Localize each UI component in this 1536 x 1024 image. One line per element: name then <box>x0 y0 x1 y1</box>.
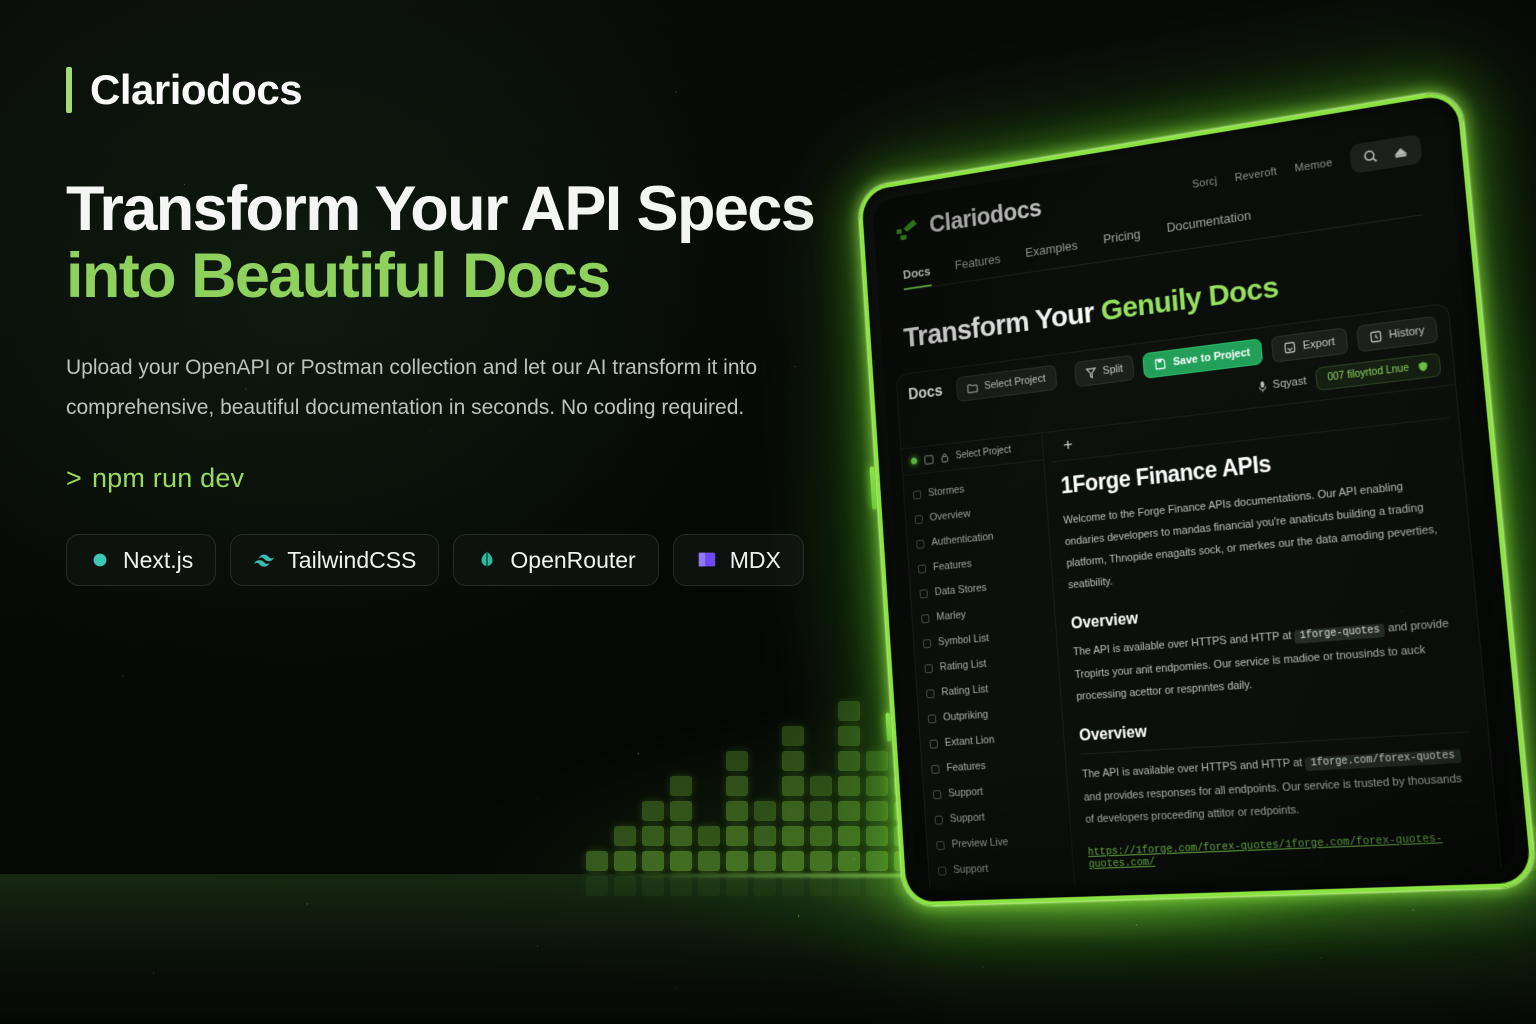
equalizer-column <box>782 726 804 896</box>
sidebar-item-label: Extant Lion <box>944 734 994 749</box>
export-small-icon <box>924 454 934 465</box>
equalizer-cell <box>838 776 860 796</box>
command-text: npm run dev <box>92 463 244 493</box>
export-button[interactable]: Export <box>1271 327 1348 363</box>
sidebar-header-label: Select Project <box>955 445 1011 462</box>
save-to-project-button[interactable]: Save to Project <box>1143 338 1264 379</box>
brand-name: Clariodocs <box>90 66 302 114</box>
equalizer-cell <box>698 851 720 871</box>
sidebar-item-icon <box>928 714 937 723</box>
header-link-0[interactable]: Sorcj <box>1192 175 1218 191</box>
prompt-chevron-icon: > <box>66 463 82 493</box>
equalizer-cell <box>782 726 804 746</box>
sidebar-item-label: Rating List <box>939 658 986 673</box>
app-nav-tab-features[interactable]: Features <box>954 251 1001 278</box>
export-label: Export <box>1302 336 1335 352</box>
tech-badge-list: Next.jsTailwindCSSOpenRouterMDX <box>66 534 866 586</box>
sidebar-item-label: Support <box>953 863 989 876</box>
doc-section-0-code: 1forge-quotes <box>1294 624 1385 644</box>
equalizer-cell <box>726 776 748 796</box>
mdx-icon <box>696 549 718 571</box>
sidebar-item-label: Outpriking <box>943 709 989 724</box>
equalizer-cell <box>754 826 776 846</box>
save-to-project-label: Save to Project <box>1173 347 1251 369</box>
tech-badge-label: Next.js <box>123 547 193 574</box>
equalizer-cell <box>838 801 860 821</box>
history-label: History <box>1388 324 1425 341</box>
brand-lockup: Clariodocs <box>66 66 866 114</box>
mic-button[interactable]: Sqyast <box>1257 375 1306 393</box>
tech-badge-label: OpenRouter <box>510 547 635 574</box>
clariodocs-logo-icon <box>896 217 920 241</box>
tablet-screen: Clariodocs Sorcj Reveroft Memoe <box>872 107 1517 890</box>
tech-badge-next-js[interactable]: Next.js <box>66 534 216 586</box>
sidebar-item-label: Preview Live <box>951 836 1008 850</box>
tech-badge-label: MDX <box>730 547 781 574</box>
equalizer-cell <box>670 851 692 871</box>
sidebar-item-label: Features <box>933 558 972 573</box>
tablet-frame: Clariodocs Sorcj Reveroft Memoe <box>858 88 1536 906</box>
equalizer-cell <box>754 851 776 871</box>
app-nav-tab-docs[interactable]: Docs <box>902 264 931 290</box>
header-icon-group <box>1349 134 1422 174</box>
select-project-button[interactable]: Select Project <box>956 365 1058 402</box>
headline-line-2: into Beautiful Docs <box>66 243 866 310</box>
app-nav-tab-pricing[interactable]: Pricing <box>1103 226 1142 253</box>
tech-badge-label: TailwindCSS <box>287 547 416 574</box>
sidebar-item-icon <box>921 614 930 623</box>
status-dot-icon <box>911 457 918 464</box>
equalizer-cell <box>810 851 832 871</box>
search-icon[interactable] <box>1362 148 1379 165</box>
openrouter-icon <box>476 549 498 571</box>
equalizer-cell <box>782 801 804 821</box>
lock-small-icon <box>940 452 949 463</box>
sidebar-item-icon <box>931 764 940 773</box>
brand-accent-bar <box>66 67 72 113</box>
equalizer-cell <box>838 726 860 746</box>
sidebar-item-icon <box>929 739 938 748</box>
sidebar-item-icon <box>934 815 943 824</box>
sidebar-item-label: Features <box>946 760 986 774</box>
app-logo-name: Clariodocs <box>928 195 1042 240</box>
sidebar-item-label: Data Stores <box>934 582 987 598</box>
sidebar-item-label: Stormes <box>928 484 965 499</box>
equalizer-cell <box>726 826 748 846</box>
install-command: >npm run dev <box>66 463 866 494</box>
equalizer-cell <box>726 851 748 871</box>
app-hero-white: Transform Your <box>903 296 1103 354</box>
hero-content: Clariodocs Transform Your API Specs into… <box>66 66 866 586</box>
tech-badge-mdx[interactable]: MDX <box>673 534 804 586</box>
hero-subcopy: Upload your OpenAPI or Postman collectio… <box>66 348 846 430</box>
tailwindcss-icon <box>253 549 275 571</box>
tablet-mockup: Clariodocs Sorcj Reveroft Memoe <box>858 88 1536 906</box>
doc-section-1-body: The API is available over HTTPS and HTTP… <box>1081 742 1478 831</box>
sidebar-item-icon <box>936 840 945 849</box>
header-link-1[interactable]: Reveroft <box>1234 165 1277 183</box>
sidebar-item-icon <box>919 589 927 598</box>
app-nav-tab-examples[interactable]: Examples <box>1025 238 1079 267</box>
equalizer-cell <box>782 851 804 871</box>
app-hero-green: Genuily Docs <box>1100 271 1280 328</box>
equalizer-cell <box>726 801 748 821</box>
equalizer-cell <box>642 851 664 871</box>
sidebar-item-label: Marley <box>936 609 966 623</box>
doc-section-1-code: 1forge.com/forex-quotes <box>1305 749 1461 771</box>
equalizer-cell <box>614 826 636 846</box>
equalizer-cell <box>838 851 860 871</box>
doc-section-1: Overview The API is available over HTTPS… <box>1079 704 1478 831</box>
sidebar-item-label: Overview <box>929 508 970 524</box>
doc-section-0: Overview The API is available over HTTPS… <box>1070 584 1465 708</box>
equalizer-cell <box>838 826 860 846</box>
workspace-title: Docs <box>908 383 943 404</box>
sidebar-item-label: Authentication <box>931 531 994 549</box>
status-text: 007 filoyrtod Lnue <box>1327 363 1410 384</box>
doc-footer-bar: Dbb prong yord documentation catalis. fi… <box>1091 875 1487 890</box>
equalizer-cell <box>642 826 664 846</box>
sidebar-item-icon <box>938 866 947 875</box>
nextjs-icon <box>89 549 111 571</box>
sidebar-item-label: Symbol List <box>938 632 990 648</box>
page-title: Transform Your API Specs into Beautiful … <box>66 176 866 310</box>
doc-footer-text[interactable]: Dbb prong yord documentation catalis. fi… <box>1091 889 1468 890</box>
sidebar-item-icon <box>918 564 926 573</box>
equalizer-cell <box>810 801 832 821</box>
account-icon[interactable] <box>1392 143 1410 161</box>
doc-section-1-text-before: The API is available over HTTPS and HTTP… <box>1082 757 1303 781</box>
history-button[interactable]: History <box>1356 316 1438 353</box>
headline-line-1: Transform Your API Specs <box>66 176 866 243</box>
equalizer-column <box>838 701 860 896</box>
split-button[interactable]: Split <box>1074 355 1135 388</box>
sidebar-item-icon <box>923 639 932 648</box>
tech-badge-tailwindcss[interactable]: TailwindCSS <box>230 534 439 586</box>
equalizer-cell <box>782 751 804 771</box>
app-logo[interactable]: Clariodocs <box>896 195 1043 245</box>
doc-section-1-text-after: and provides responses for all endpoints… <box>1083 773 1462 826</box>
equalizer-cell <box>586 851 608 871</box>
equalizer-cell <box>810 826 832 846</box>
equalizer-cell <box>642 801 664 821</box>
workspace-panel: Docs Select Project Split Save to P <box>896 303 1507 890</box>
equalizer-cell <box>838 751 860 771</box>
sidebar-item-icon <box>933 790 942 799</box>
sidebar-item-icon <box>924 664 933 673</box>
sidebar-item-icon <box>916 539 924 548</box>
doc-section-0-text-before: The API is available over HTTPS and HTTP… <box>1073 630 1292 659</box>
app-nav-tab-documentation[interactable]: Documentation <box>1166 208 1252 242</box>
sidebar-item-icon <box>913 490 921 499</box>
tech-badge-openrouter[interactable]: OpenRouter <box>453 534 658 586</box>
mic-label: Sqyast <box>1272 375 1307 391</box>
doc-section-0-text-after: and provide Tropirts your anit endpomies… <box>1074 618 1449 703</box>
header-link-2[interactable]: Memoe <box>1294 156 1333 174</box>
equalizer-cell <box>670 776 692 796</box>
doc-content: + 1Forge Finance APIs Welcome to the For… <box>1042 385 1505 890</box>
doc-section-1-heading: Overview <box>1079 704 1470 746</box>
equalizer-cell <box>754 801 776 821</box>
equalizer-cell <box>670 826 692 846</box>
equalizer-cell <box>782 826 804 846</box>
equalizer-cell <box>698 826 720 846</box>
equalizer-cell <box>726 751 748 771</box>
equalizer-cell <box>670 801 692 821</box>
select-project-label: Select Project <box>984 373 1046 392</box>
add-tab-button[interactable]: + <box>1050 434 1086 454</box>
doc-external-link[interactable]: https://1forge.com/forex-quotes/1forge.c… <box>1088 831 1483 871</box>
equalizer-cell <box>614 851 636 871</box>
workspace-body: Select Project StormesOverviewAuthentica… <box>901 384 1505 890</box>
sidebar-item-label: Support <box>948 786 983 800</box>
sidebar-item-icon <box>926 689 935 698</box>
hero-landing-page: Clariodocs Transform Your API Specs into… <box>0 0 1536 1024</box>
sidebar-item-label: Rating List <box>941 683 988 698</box>
split-label: Split <box>1102 363 1123 377</box>
sidebar-item-support[interactable]: Support <box>928 853 1073 884</box>
equalizer-cell <box>782 776 804 796</box>
shield-check-icon <box>1417 360 1430 373</box>
equalizer-cell <box>810 776 832 796</box>
sidebar-item-label: Support <box>950 812 986 825</box>
sidebar-item-icon <box>915 514 923 523</box>
equalizer-cell <box>838 701 860 721</box>
